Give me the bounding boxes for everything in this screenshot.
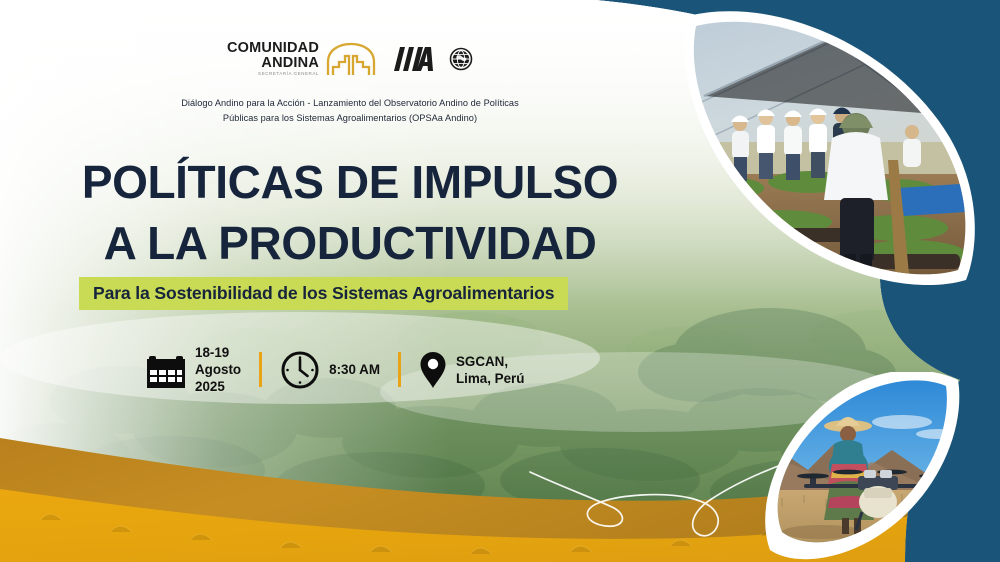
poster-header: COMUNIDAD ANDINA SECRETARÍA GENERAL (0, 36, 700, 126)
title-line-1: POLÍTICAS DE IMPULSO (0, 152, 700, 213)
strapline: Diálogo Andino para la Acción - Lanzamie… (0, 96, 700, 126)
iica-logo (392, 44, 473, 74)
comunidad-andina-wordmark: COMUNIDAD ANDINA SECRETARÍA GENERAL (227, 41, 319, 77)
event-date-text: 18-19 Agosto 2025 (195, 344, 241, 395)
photo-drone-farmer (752, 372, 977, 562)
strapline-line2: Públicas para los Sistemas Agroalimentar… (0, 111, 700, 126)
event-poster: COMUNIDAD ANDINA SECRETARÍA GENERAL (0, 0, 1000, 562)
event-time-text: 8:30 AM (329, 361, 380, 378)
calendar-icon (146, 351, 186, 389)
clock-icon (280, 350, 320, 390)
comunidad-andina-logo: COMUNIDAD ANDINA SECRETARÍA GENERAL (227, 41, 376, 77)
subtitle-text: Para la Sostenibilidad de los Sistemas A… (93, 283, 554, 304)
event-venue-text: SGCAN, Lima, Perú (456, 353, 524, 387)
strapline-line1: Diálogo Andino para la Acción - Lanzamie… (0, 96, 700, 111)
photo-nursery-group (660, 0, 990, 292)
location-pin-icon (419, 350, 447, 390)
comunidad-andina-line2: ANDINA (227, 56, 319, 71)
event-date-line-2: Agosto (195, 361, 241, 378)
detail-divider-2 (398, 352, 401, 387)
event-date-line-3: 2025 (195, 378, 241, 395)
page-title: POLÍTICAS DE IMPULSO A LA PRODUCTIVIDAD (0, 152, 700, 273)
title-line-2: A LA PRODUCTIVIDAD (0, 213, 700, 274)
logo-row: COMUNIDAD ANDINA SECRETARÍA GENERAL (0, 36, 700, 82)
globe-icon (449, 47, 473, 71)
comunidad-andina-line3: SECRETARÍA GENERAL (227, 72, 319, 77)
event-venue: SGCAN, Lima, Perú (419, 350, 524, 390)
event-time: 8:30 AM (280, 350, 380, 390)
event-date-line-1: 18-19 (195, 344, 241, 361)
event-venue-line-2: Lima, Perú (456, 370, 524, 387)
iica-wordmark-icon (392, 44, 448, 74)
comunidad-andina-line1: COMUNIDAD (227, 41, 319, 56)
event-details-strip: 18-19 Agosto 2025 8:30 AM (146, 344, 524, 395)
subtitle-banner: Para la Sostenibilidad de los Sistemas A… (79, 277, 568, 310)
event-date: 18-19 Agosto 2025 (146, 344, 241, 395)
detail-divider-1 (259, 352, 262, 387)
event-venue-line-1: SGCAN, (456, 353, 524, 370)
andean-arch-icon (326, 42, 376, 76)
